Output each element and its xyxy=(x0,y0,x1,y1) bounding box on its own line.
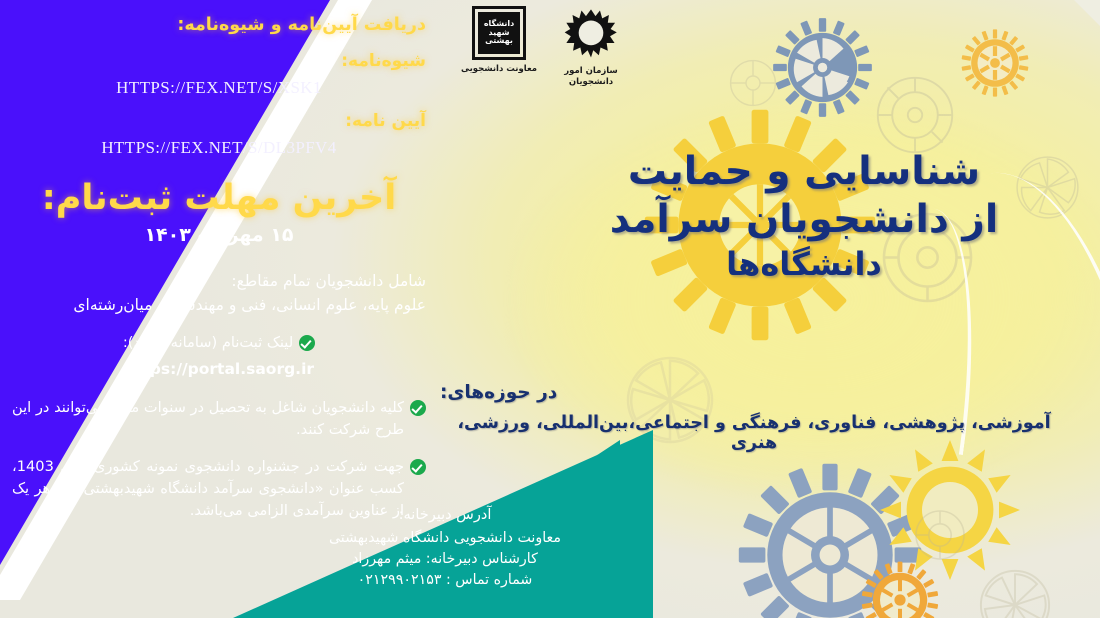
main-title-block: شناسایی و حمایت از دانشجویان سرآمد دانشگ… xyxy=(534,148,1074,284)
method-doc-url[interactable]: HTTPS://FEX.NET/S/XSK1 xyxy=(12,78,426,98)
green-check-icon xyxy=(410,459,426,475)
secretariat-line-1: معاونت دانشجویی دانشگاه شهیدبهشتی xyxy=(290,528,600,549)
bullet-eligible-students: کلیه دانشجویان شاغل به تحصیل در سنوات مج… xyxy=(12,397,426,441)
green-check-icon xyxy=(410,400,426,416)
bullet-eligible-students-text: کلیه دانشجویان شاغل به تحصیل در سنوات مج… xyxy=(12,399,404,438)
eligibility-block: شامل دانشجویان تمام مقاطع: علوم پایه، عل… xyxy=(12,270,426,317)
title-line-1: شناسایی و حمایت xyxy=(628,149,980,194)
regulation-doc-label: آیین نامه: xyxy=(12,111,426,131)
deadline-date: ۱۵ مهرماه ۱۴۰۳ xyxy=(12,224,426,246)
gear-outline-small-left xyxy=(718,48,788,118)
secretariat-phone: شماره تماس : ۰۲۱۲۹۹۰۲۱۵۳ xyxy=(290,570,600,591)
poster-canvas: آدرس دبیرخانه: معاونت دانشجویی دانشگاه ش… xyxy=(0,0,1100,618)
organization-logo-caption: سازمان امور دانشجویان xyxy=(563,66,619,89)
university-logo-caption: معاونت دانشجویی xyxy=(461,64,537,75)
page-title: شناسایی و حمایت از دانشجویان سرآمد دانشگ… xyxy=(534,148,1074,284)
secretariat-info: آدرس دبیرخانه: معاونت دانشجویی دانشگاه ش… xyxy=(290,505,600,592)
shahid-beheshti-university-logo: دانشگاه شهید بهشتی معاونت دانشجویی xyxy=(461,6,537,75)
regulation-doc-url[interactable]: HTTPS://FEX.NET/S/DL3PFV4 xyxy=(12,138,426,158)
secretariat-heading: آدرس دبیرخانه: xyxy=(290,505,600,527)
student-affairs-organization-logo: سازمان امور دانشجویان xyxy=(563,6,619,89)
download-docs-heading: دریافت آیین‌نامه و شیوه‌نامه: xyxy=(12,14,426,38)
starburst-icon xyxy=(563,6,619,62)
corner-accent xyxy=(1074,0,1100,26)
registration-portal-url[interactable]: https://portal.saorg.ir xyxy=(12,358,426,382)
fields-list: آموزشی، پژوهشی، فناوری، فرهنگی و اجتماعی… xyxy=(434,413,1074,453)
fields-block: در حوزه‌های: آموزشی، پژوهشی، فناوری، فره… xyxy=(434,382,1074,453)
fields-heading: در حوزه‌های: xyxy=(434,382,1074,403)
green-check-icon xyxy=(299,335,315,351)
logo-row: دانشگاه شهید بهشتی معاونت دانشجویی سازما… xyxy=(415,6,665,111)
gear-outline-bottom-b xyxy=(960,550,1070,618)
eligibility-line-1: شامل دانشجویان تمام مقاطع: xyxy=(12,270,426,293)
title-line-2: از دانشجویان سرآمد xyxy=(610,197,998,242)
method-doc-label: شیوه‌نامه: xyxy=(12,51,426,71)
secretariat-line-2: کارشناس دبیرخانه: میثم مهرزاد xyxy=(290,549,600,570)
university-emblem-icon: دانشگاه شهید بهشتی xyxy=(472,6,526,60)
bullet-registration-link: لینک ثبت‌نام (سامانه سجاد): https://port… xyxy=(12,332,426,382)
bullet-registration-text: لینک ثبت‌نام (سامانه سجاد): xyxy=(123,334,293,351)
deadline-heading: آخرین مهلت ثبت‌نام: xyxy=(12,180,426,217)
eligibility-line-2: علوم پایه، علوم انسانی، فنی و مهندسی و م… xyxy=(12,294,426,317)
title-line-3: دانشگاه‌ها xyxy=(534,245,1074,284)
university-emblem-inner: دانشگاه شهید بهشتی xyxy=(478,12,520,54)
